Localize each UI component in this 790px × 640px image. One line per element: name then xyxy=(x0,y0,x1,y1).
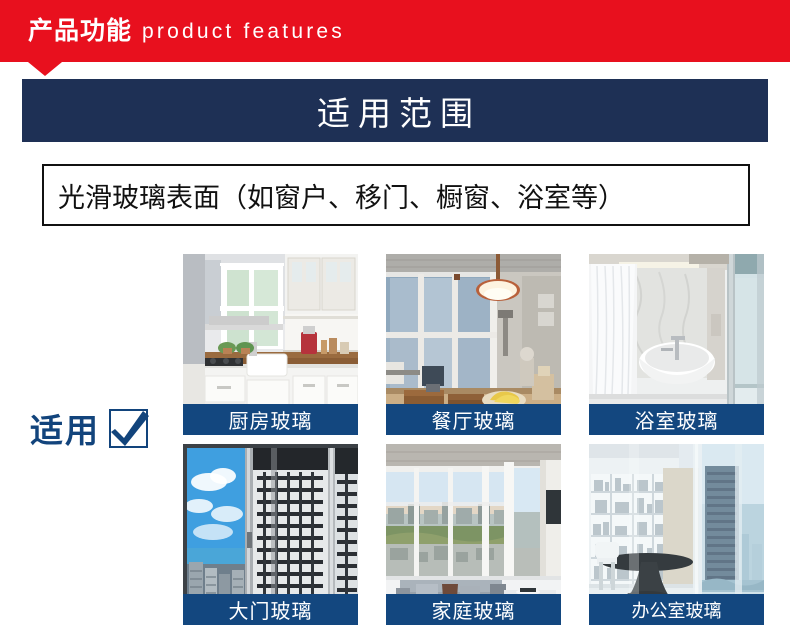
suitable-label: 适用 xyxy=(30,404,100,452)
scene-card-bathroom[interactable]: 浴室玻璃 xyxy=(589,254,764,435)
scene-caption-text: 浴室玻璃 xyxy=(635,405,719,434)
scene-card-office[interactable]: 办公室玻璃 xyxy=(589,444,764,625)
scope-description-box: 光滑玻璃表面（如窗户、移门、橱窗、浴室等） xyxy=(42,164,750,226)
banner-title-en: product features xyxy=(142,21,345,42)
application-scene-grid: 厨房玻璃 xyxy=(183,254,790,625)
scene-card-living-room[interactable]: 家庭玻璃 xyxy=(386,444,561,625)
section-title-bar: 适用范围 xyxy=(22,79,768,142)
scene-card-dining-room[interactable]: 餐厅玻璃 xyxy=(386,254,561,435)
scene-caption-text: 家庭玻璃 xyxy=(432,595,516,624)
banner-title-group: 产品功能 product features xyxy=(28,0,345,62)
section-title: 适用范围 xyxy=(309,87,481,135)
suitable-label-group: 适用 xyxy=(30,404,148,452)
scene-caption: 浴室玻璃 xyxy=(589,404,764,435)
scope-description-text: 光滑玻璃表面（如窗户、移门、橱窗、浴室等） xyxy=(44,176,625,215)
check-mark-icon xyxy=(109,409,148,448)
scene-caption: 厨房玻璃 xyxy=(183,404,358,435)
banner-notch-triangle xyxy=(28,62,62,76)
banner-title-cn: 产品功能 xyxy=(28,19,132,44)
scene-caption-text: 餐厅玻璃 xyxy=(432,405,516,434)
scene-caption-text: 厨房玻璃 xyxy=(229,405,313,434)
scene-caption-text: 办公室玻璃 xyxy=(632,597,722,623)
product-features-banner: 产品功能 product features xyxy=(0,0,790,62)
scene-caption: 家庭玻璃 xyxy=(386,594,561,625)
scene-caption-text: 大门玻璃 xyxy=(229,595,313,624)
scene-caption: 餐厅玻璃 xyxy=(386,404,561,435)
scene-card-kitchen[interactable]: 厨房玻璃 xyxy=(183,254,358,435)
scene-caption: 大门玻璃 xyxy=(183,594,358,625)
scene-caption: 办公室玻璃 xyxy=(589,594,764,625)
scene-card-balcony-door[interactable]: 大门玻璃 xyxy=(183,444,358,625)
product-feature-page: 产品功能 product features 适用范围 光滑玻璃表面（如窗户、移门… xyxy=(0,0,790,640)
